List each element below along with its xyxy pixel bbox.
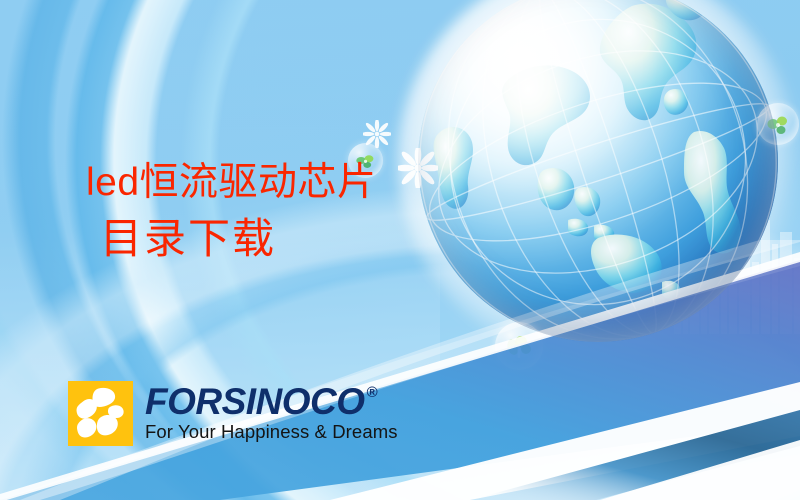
logo-wordmark: FORSINOCO ® [145,382,398,422]
headline: led恒流驱动芯片 目录下载 [86,163,377,261]
headline-line-1: led恒流驱动芯片 [86,163,377,202]
logo-tagline: For Your Happiness & Dreams [145,421,398,443]
registered-trademark-icon: ® [367,385,378,400]
company-logo: FORSINOCO ® For Your Happiness & Dreams [68,381,398,446]
logo-wordmark-text: FORSINOCO [145,382,365,422]
promo-banner: led恒流驱动芯片 目录下载 FORSINOCO ® For Your Happ… [0,0,800,500]
headline-line-2: 目录下载 [100,219,377,261]
four-petal-pinwheel-icon [68,381,133,446]
logo-text-block: FORSINOCO ® For Your Happiness & Dreams [145,381,398,443]
